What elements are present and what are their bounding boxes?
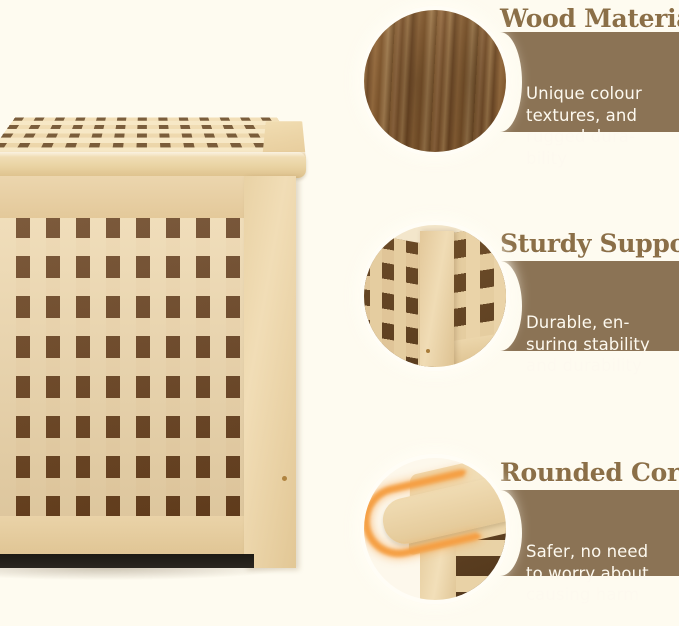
feature-callout-sturdy-support: Durable, en- suring stability and durabi… — [352, 215, 679, 400]
body-lattice-panel — [0, 218, 268, 518]
feature-description-1: Unique colour textures, and rugged dura-… — [526, 84, 642, 168]
feature-image-corner-post — [360, 221, 510, 371]
feature-description-2: Durable, en- suring stability and durabi… — [526, 313, 650, 375]
floor-shadow — [0, 568, 286, 580]
infographic-canvas: Unique colour textures, and rugged dura-… — [0, 0, 679, 626]
lid-front-edge — [0, 152, 306, 178]
feature-title-1: Wood Material — [500, 4, 679, 34]
feature-callout-wood-material: Unique colour textures, and rugged dura-… — [352, 0, 679, 180]
product-photo — [0, 70, 306, 570]
product-lid — [0, 70, 306, 185]
body-bottom-rail — [0, 516, 268, 558]
feature-description-3: Safer, no need to worry about causing ha… — [526, 542, 649, 604]
product-body — [0, 176, 306, 576]
body-corner-post — [244, 176, 296, 568]
feature-callout-rounded-corner: Safer, no need to worry about causing ha… — [352, 448, 679, 626]
feature-title-2: Sturdy Support — [500, 229, 679, 259]
lattice-shading — [0, 218, 268, 518]
feature-title-3: Rounded Corner — [500, 458, 679, 488]
base-shadow — [0, 554, 254, 568]
wood-peg-icon — [282, 476, 287, 481]
feature-image-rounded-corner — [360, 454, 510, 604]
wood-peg-icon — [426, 349, 430, 353]
body-top-rail — [0, 176, 268, 220]
feature-image-wood-grain — [360, 6, 510, 156]
wood-grain-texture — [360, 6, 510, 156]
